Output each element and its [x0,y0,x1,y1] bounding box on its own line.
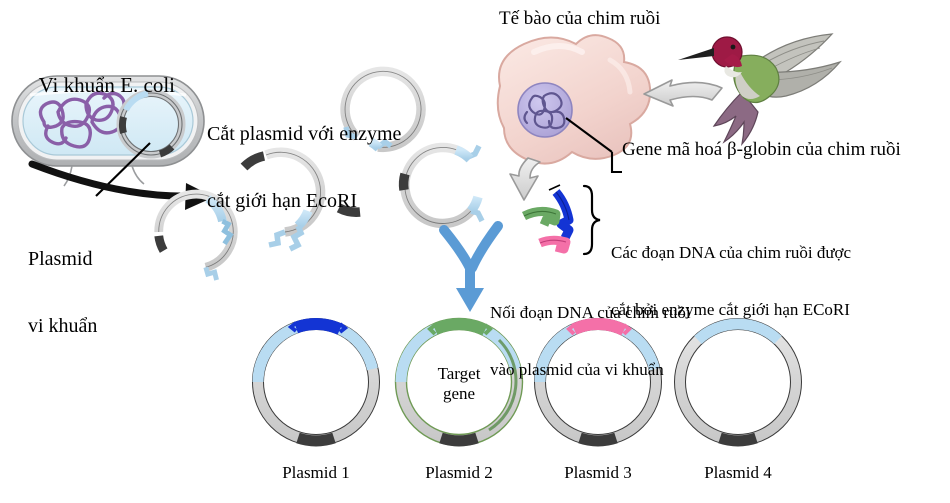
cut-plasmid-enzyme-line: cắt giới hạn EcoRI [207,190,401,212]
ligation-label: Nối đoạn DNA của chim ruồi vào plasmid c… [490,265,691,417]
ecoli-species-italic: E. coli [120,73,175,97]
cut-plasmid-label: Cắt plasmid với enzyme cắt giới hạn EcoR… [207,78,401,257]
plasmid-3-label: Plasmid 3 [548,463,648,483]
cell-to-fragments-arrow [510,158,540,200]
green-dna-fragment [524,211,556,225]
diagram-canvas: Vi khuẩn E. coli Plasmid vi khuẩn Cắt pl… [0,0,950,503]
beta-globin-gene-label: Gene mã hoá β-globin của chim ruồi [622,139,901,160]
result-plasmid-1 [253,319,380,446]
plasmid-4-label: Plasmid 4 [688,463,788,483]
plasmid-2-label: Plasmid 2 [409,463,509,483]
bacterial-plasmid-label: Plasmid vi khuẩn [28,203,97,382]
cut-plasmid-d [404,146,482,223]
ecoli-label: Vi khuẩn E. coli [18,50,175,121]
pink-dna-fragment [540,240,566,249]
fragments-brace [584,186,600,254]
hummingbird-cell-label: Tế bào của chim ruồi [499,8,660,29]
bird-to-cell-arrow [644,80,722,106]
target-gene-text: Target gene [419,364,499,403]
plasmid-1-label: Plasmid 1 [266,463,366,483]
